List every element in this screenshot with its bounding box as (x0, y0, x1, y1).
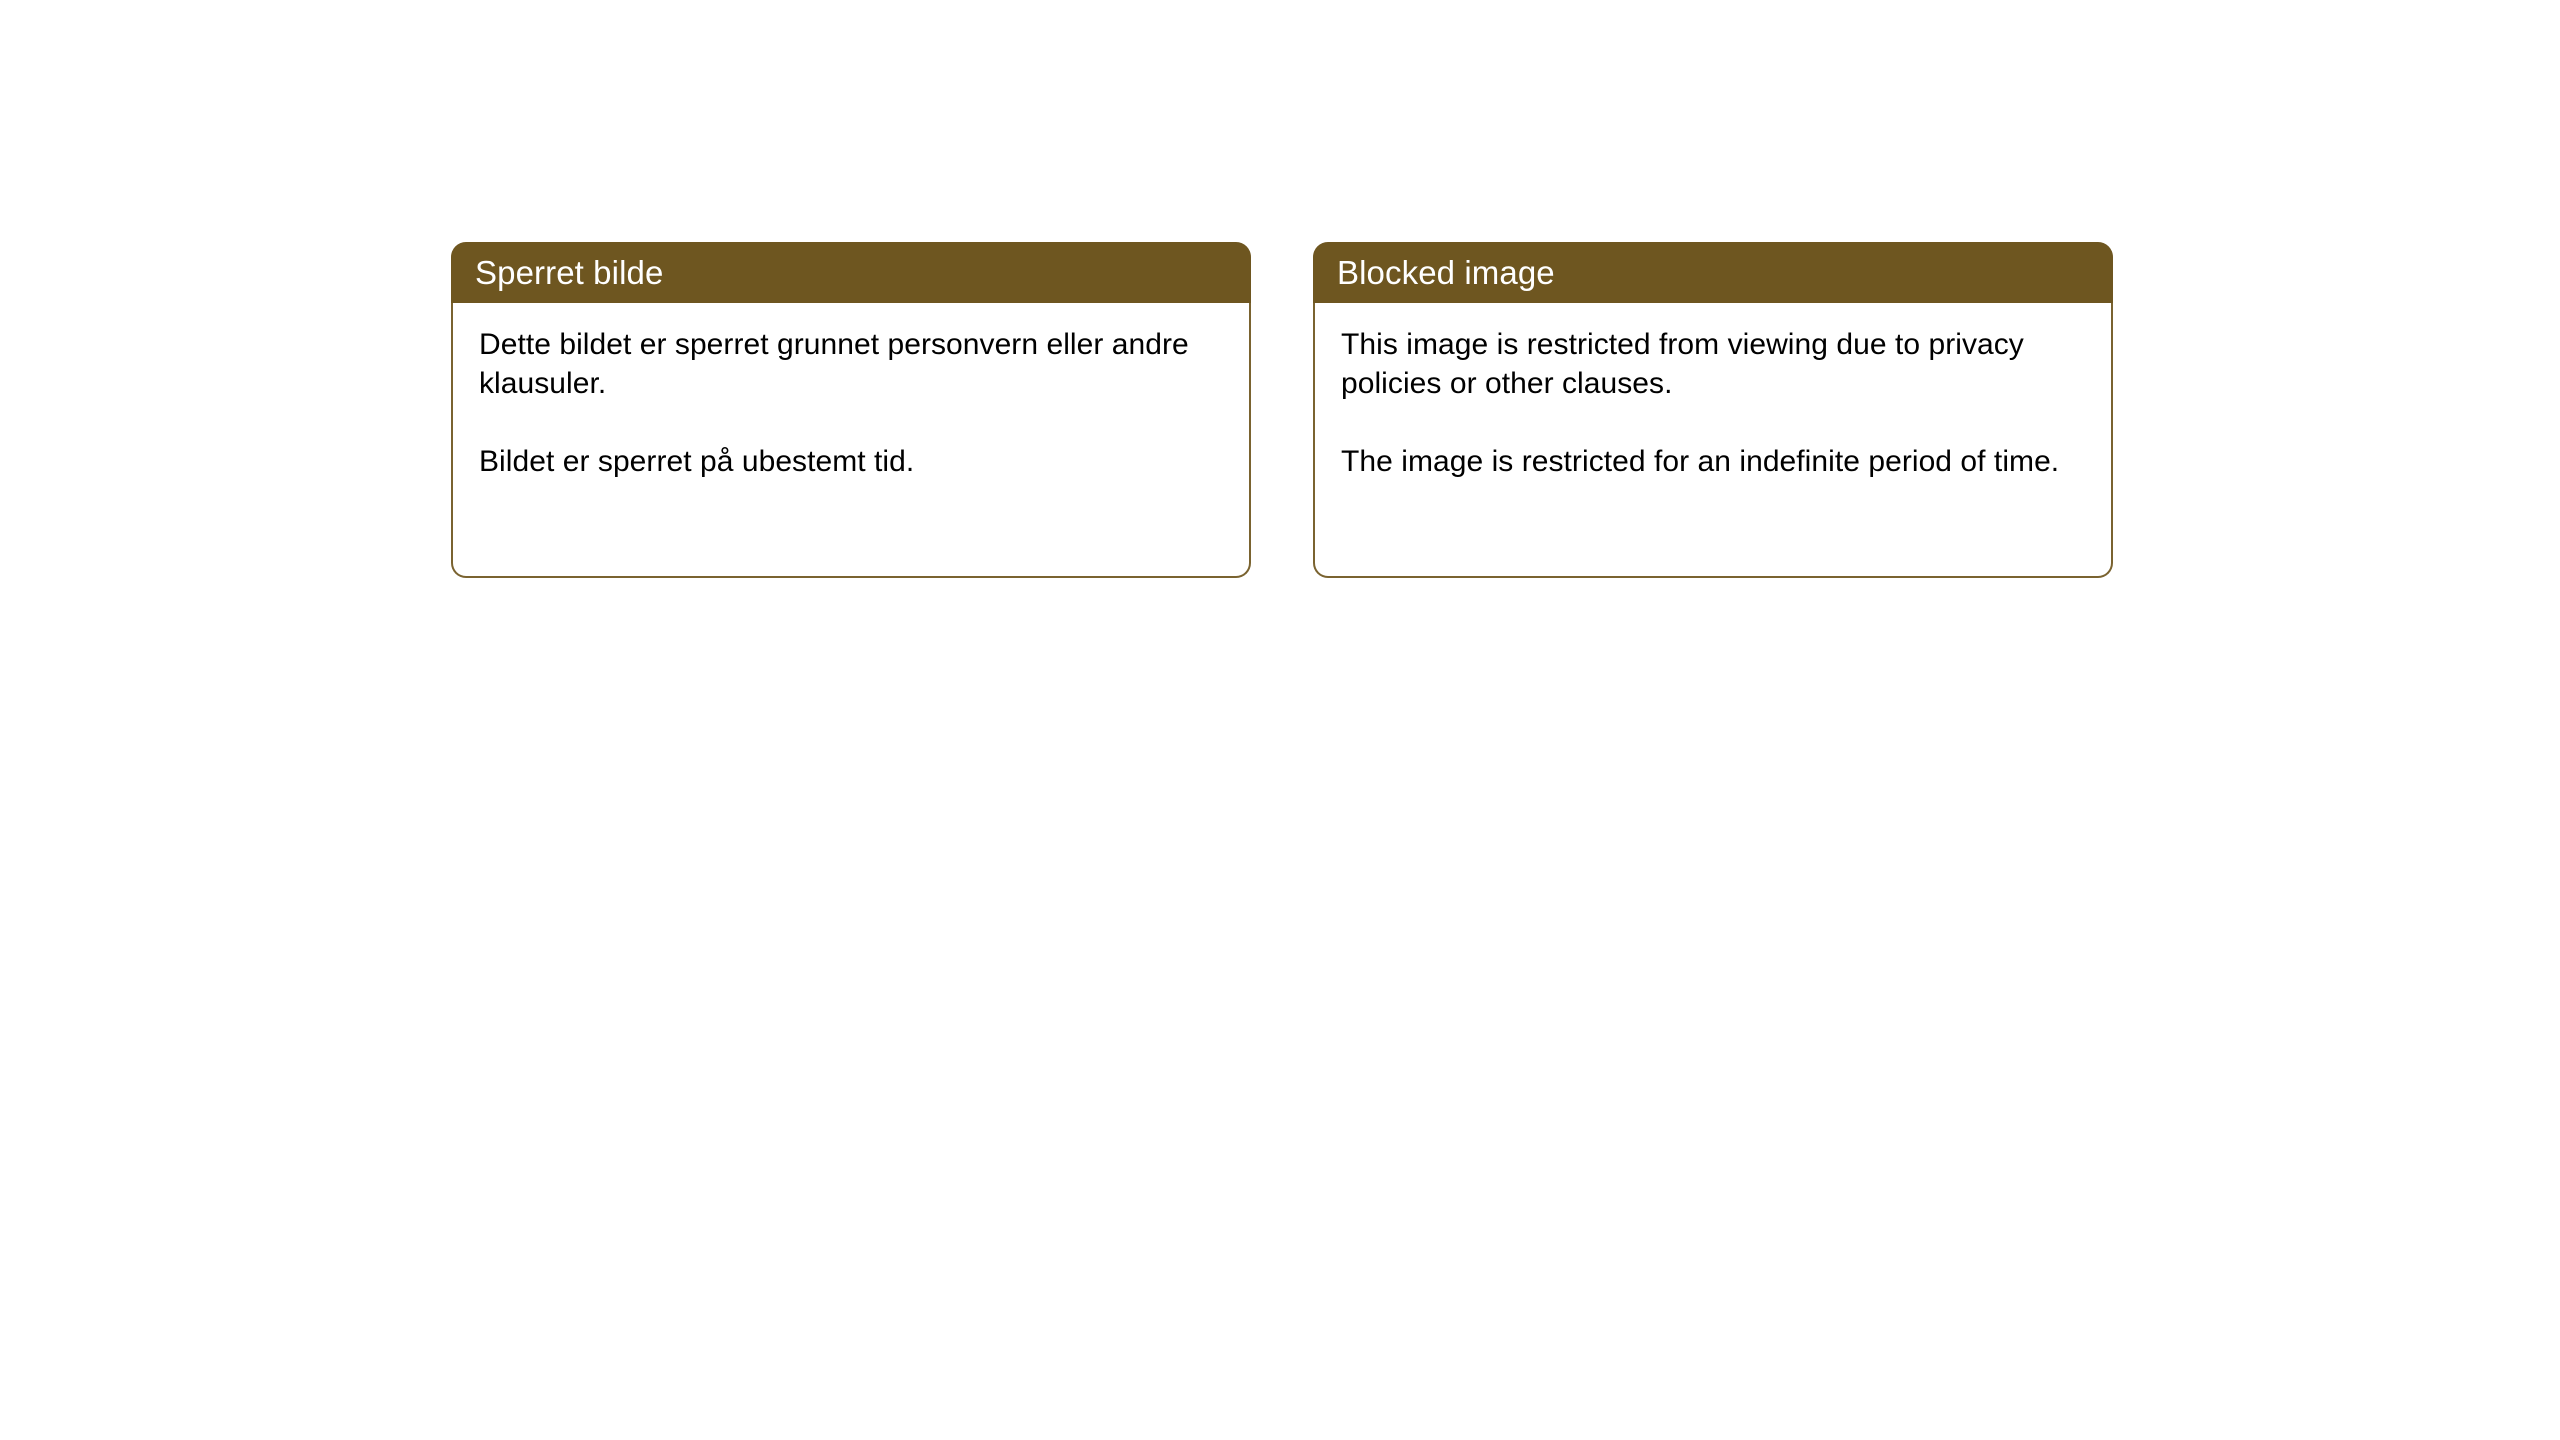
blocked-image-card-english: Blocked image This image is restricted f… (1313, 242, 2113, 578)
page-canvas: Sperret bilde Dette bildet er sperret gr… (0, 0, 2560, 1440)
paragraph-spacer-norwegian (479, 403, 1223, 442)
card-paragraph-primary-english: This image is restricted from viewing du… (1341, 325, 2085, 403)
paragraph-spacer-english (1341, 403, 2085, 442)
blocked-image-card-norwegian: Sperret bilde Dette bildet er sperret gr… (451, 242, 1251, 578)
card-header-english: Blocked image (1313, 242, 2113, 303)
card-paragraph-secondary-english: The image is restricted for an indefinit… (1341, 442, 2085, 481)
card-paragraph-secondary-norwegian: Bildet er sperret på ubestemt tid. (479, 442, 1223, 481)
card-body-norwegian: Dette bildet er sperret grunnet personve… (451, 303, 1251, 578)
card-title-norwegian: Sperret bilde (475, 256, 663, 289)
card-header-norwegian: Sperret bilde (451, 242, 1251, 303)
card-paragraph-primary-norwegian: Dette bildet er sperret grunnet personve… (479, 325, 1223, 403)
card-body-english: This image is restricted from viewing du… (1313, 303, 2113, 578)
card-title-english: Blocked image (1337, 256, 1555, 289)
